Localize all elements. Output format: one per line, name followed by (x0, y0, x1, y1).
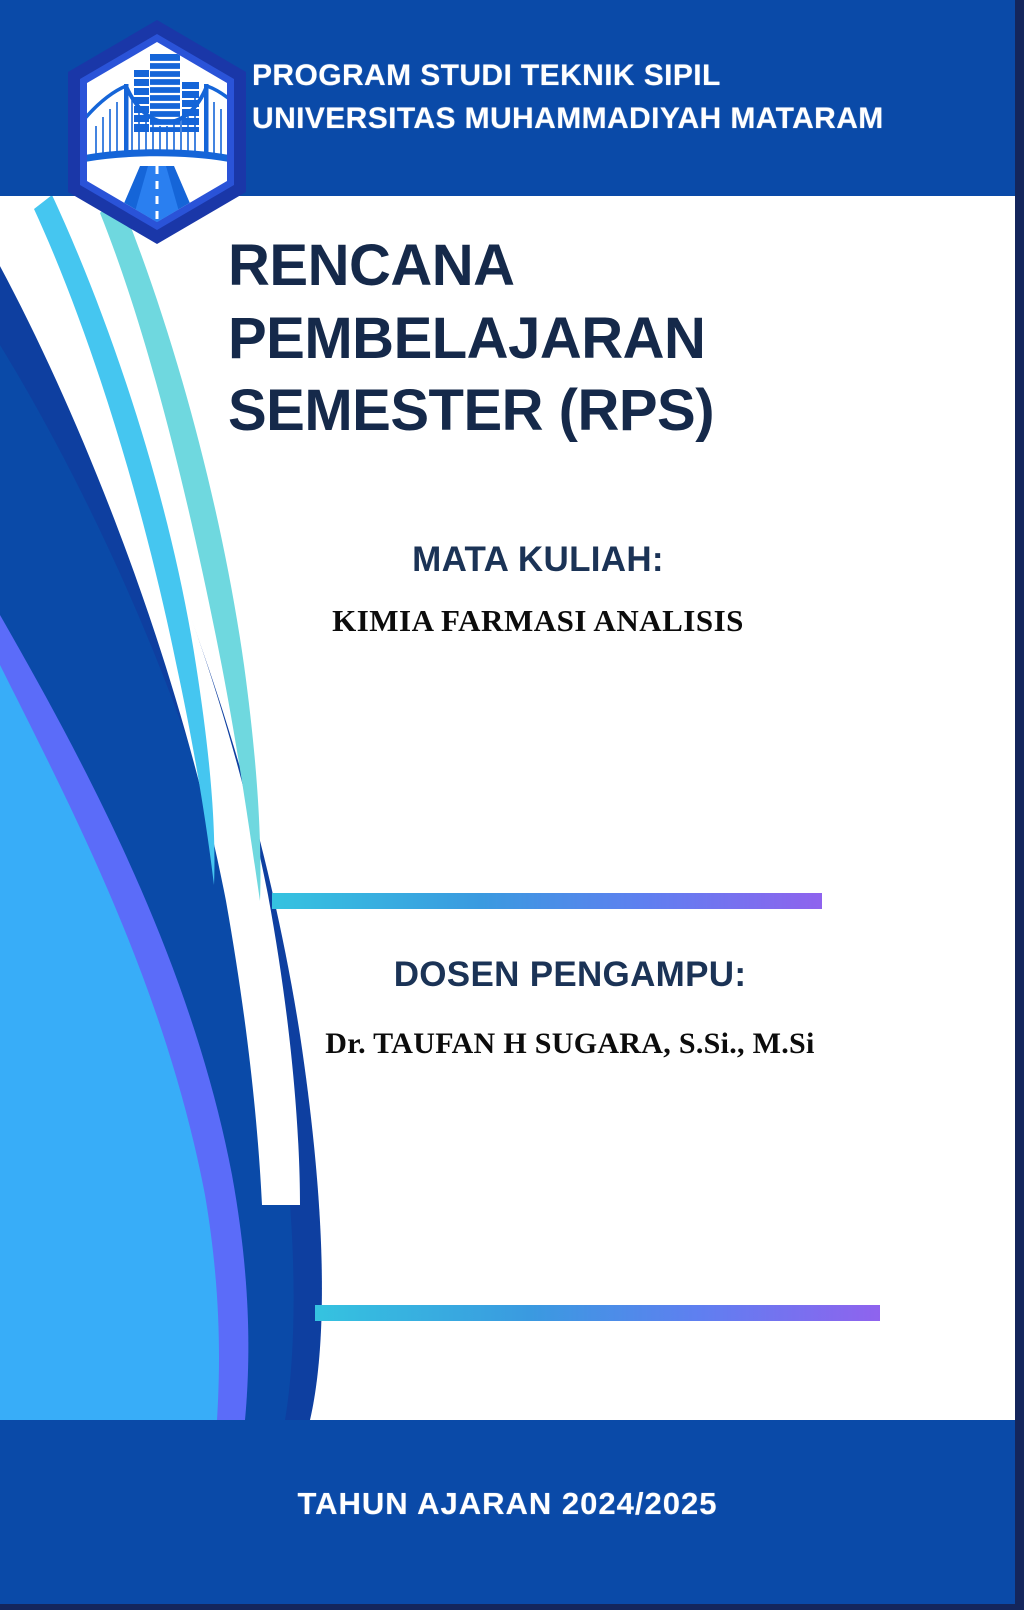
divider-rule-bottom (315, 1305, 880, 1321)
subject-value: KIMIA FARMASI ANALISIS (228, 603, 848, 639)
civil-engineering-hexagon-badge-icon (62, 16, 252, 248)
rps-cover-page: RENCANA PEMBELAJARAN SEMESTER (RPS) MATA… (0, 0, 1024, 1610)
page-edge-right (1015, 0, 1024, 1610)
university-logo (62, 16, 252, 248)
footer-band: TAHUN AJARAN 2024/2025 (0, 1420, 1024, 1610)
cover-body: RENCANA PEMBELAJARAN SEMESTER (RPS) MATA… (0, 195, 1015, 1420)
page-edge-bottom (0, 1604, 1024, 1610)
lecturer-label: DOSEN PENGAMPU: (250, 955, 890, 995)
academic-year: TAHUN AJARAN 2024/2025 (0, 1486, 1015, 1522)
header-line-university: UNIVERSITAS MUHAMMADIYAH MATARAM (252, 98, 884, 141)
subject-label: MATA KULIAH: (228, 540, 848, 580)
content-card: RENCANA PEMBELAJARAN SEMESTER (RPS) MATA… (0, 195, 1015, 1420)
divider-rule-top (272, 893, 822, 909)
header-line-program: PROGRAM STUDI TEKNIK SIPIL (252, 55, 884, 98)
page-title: RENCANA PEMBELAJARAN SEMESTER (RPS) (228, 230, 868, 448)
header-text-block: PROGRAM STUDI TEKNIK SIPIL UNIVERSITAS M… (252, 55, 884, 140)
lecturer-name: Dr. TAUFAN H SUGARA, S.Si., M.Si (250, 1027, 890, 1061)
bridge-tower-left (124, 84, 129, 154)
